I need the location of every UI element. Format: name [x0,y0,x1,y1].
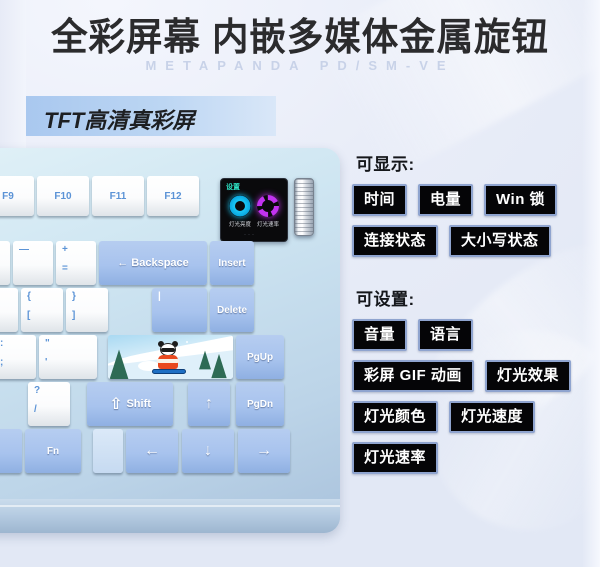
tag-time[interactable]: 时间 [352,184,407,216]
key-arrow-up[interactable]: ↑ [188,382,230,426]
key-legend-top: : [0,338,3,349]
section-banner-label: TFT高清真彩屏 [44,103,194,135]
key-fn[interactable]: Fn [25,429,81,473]
key-quote[interactable]: " ' [39,335,97,379]
key-label: Fn [47,446,59,457]
artwork-snowflake [186,341,188,343]
speed-ring-icon [257,195,279,217]
key-label: Shift [126,398,150,410]
panda-mascot-icon [156,343,180,373]
tag-connection-status[interactable]: 连接状态 [352,225,438,257]
key-spacer[interactable] [93,429,123,473]
tft-title: 设置 [226,182,240,192]
tag-light-color[interactable]: 灯光颜色 [352,401,438,433]
key-arrow-down[interactable]: ↓ [182,429,234,473]
tag-battery[interactable]: 电量 [418,184,473,216]
panda-eyes [161,348,175,352]
key-shift-right[interactable]: ⇧ Shift [87,382,173,426]
key-legend-top: — [19,244,29,255]
key-backspace[interactable]: ← Backspace [99,241,207,285]
snowboard-icon [152,369,186,374]
key-slash[interactable]: ? / [28,382,70,426]
key-label: F11 [110,191,127,202]
key-pgup[interactable]: PgUp [236,335,284,379]
key-f12[interactable]: F12 [147,176,199,216]
key-f9[interactable]: F9 [0,176,34,216]
arrow-left-icon: ← [144,442,160,460]
page-root: 全彩屏幕 内嵌多媒体金属旋钮 METAPANDA PD/SM-VE TFT高清真… [0,0,600,567]
feature-panel: 可显示: 时间 电量 Win 锁 连接状态 大小写状态 可设置: 音量 语言 彩… [352,150,600,550]
key-label: PgDn [247,399,273,410]
tag-light-effect[interactable]: 灯光效果 [485,360,571,392]
key-arrow-left[interactable]: ← [126,429,178,473]
key-f10[interactable]: F10 [37,176,89,216]
key-pgdn[interactable]: PgDn [236,382,284,426]
key-minus-2[interactable]: — [13,241,53,285]
key-legend-top: { [27,291,31,302]
artwork-pine-tree [199,351,211,370]
tag-language[interactable]: 语言 [418,319,473,351]
key-legend-bottom: ' [45,357,47,368]
key-legend-bottom: ; [0,357,3,368]
key-bracket-left[interactable]: { [ [21,288,63,332]
key-ctrl-right[interactable] [0,429,22,473]
key-legend-top: " [45,338,50,349]
arrow-up-icon: ↑ [205,395,213,413]
key-f11[interactable]: F11 [92,176,144,216]
keyboard-case-front [0,499,340,533]
artwork-pine-tree [109,350,130,380]
artwork-snowflake [200,351,202,353]
key-legend-top: ? [34,385,40,396]
settings-tag-list: 音量 语言 彩屏 GIF 动画 灯光效果 灯光颜色 灯光速度 灯光速率 [352,319,600,474]
key-label: PgUp [247,352,273,363]
key-label: F10 [54,191,71,202]
keyboard-product-image: F9 F10 F11 F12 设置 灯光亮度 灯光速率 ··· — — [0,148,340,533]
key-arrow-right[interactable]: → [238,429,290,473]
key-minus[interactable]: — [0,241,10,285]
key-legend-top: + [62,244,68,255]
brightness-icon [229,195,251,217]
metal-volume-knob[interactable] [294,178,314,236]
key-semicolon[interactable]: : ; [0,335,36,379]
key-p[interactable]: P [0,288,18,332]
section-banner: TFT高清真彩屏 [26,96,276,136]
panda-arms [157,359,179,363]
tft-color-screen[interactable]: 设置 灯光亮度 灯光速率 ··· [220,178,288,242]
key-label: ← Backspace [117,257,189,269]
artwork-snowflake [216,344,218,346]
key-label: Delete [217,305,247,316]
arrow-right-icon: → [256,442,272,460]
key-label: F9 [2,191,14,202]
key-legend-top: | [158,291,161,302]
keyboard-keys-area: F9 F10 F11 F12 设置 灯光亮度 灯光速率 ··· — — [0,158,328,506]
key-equals[interactable]: + = [56,241,96,285]
shift-arrow-icon: ⇧ [109,394,122,414]
key-delete[interactable]: Delete [210,288,254,332]
settings-group-title: 可设置: [356,285,600,310]
display-group-title: 可显示: [356,150,600,175]
key-bracket-right[interactable]: } ] [66,288,108,332]
tag-caps-status[interactable]: 大小写状态 [449,225,551,257]
group-spacer [352,263,600,285]
tft-item1-label: 灯光亮度 [228,220,252,228]
tag-gif-animation[interactable]: 彩屏 GIF 动画 [352,360,474,392]
tft-item2-label: 灯光速率 [256,220,280,228]
key-legend-bottom: ] [72,310,75,321]
tag-volume[interactable]: 音量 [352,319,407,351]
key-legend-bottom: / [34,404,37,415]
key-legend-bottom: = [62,263,68,274]
key-backslash[interactable]: | [152,288,207,332]
page-title: 全彩屏幕 内嵌多媒体金属旋钮 [12,14,588,62]
key-label: F12 [164,191,181,202]
key-legend-bottom: [ [27,310,30,321]
key-insert[interactable]: Insert [210,241,254,285]
tag-light-rate[interactable]: 灯光速率 [352,442,438,474]
key-legend-top: } [72,291,76,302]
tag-light-speed[interactable]: 灯光速度 [449,401,535,433]
key-enter-artwork[interactable] [108,335,233,379]
brand-watermark: METAPANDA PD/SM-VE [0,58,600,73]
artwork-pine-tree [211,354,226,378]
tag-win-lock[interactable]: Win 锁 [484,184,557,216]
header: 全彩屏幕 内嵌多媒体金属旋钮 METAPANDA PD/SM-VE [0,0,600,88]
tft-page-dots: ··· [244,232,256,238]
display-tag-list: 时间 电量 Win 锁 连接状态 大小写状态 [352,184,600,257]
arrow-down-icon: ↓ [204,442,212,460]
key-label: Insert [218,258,245,269]
